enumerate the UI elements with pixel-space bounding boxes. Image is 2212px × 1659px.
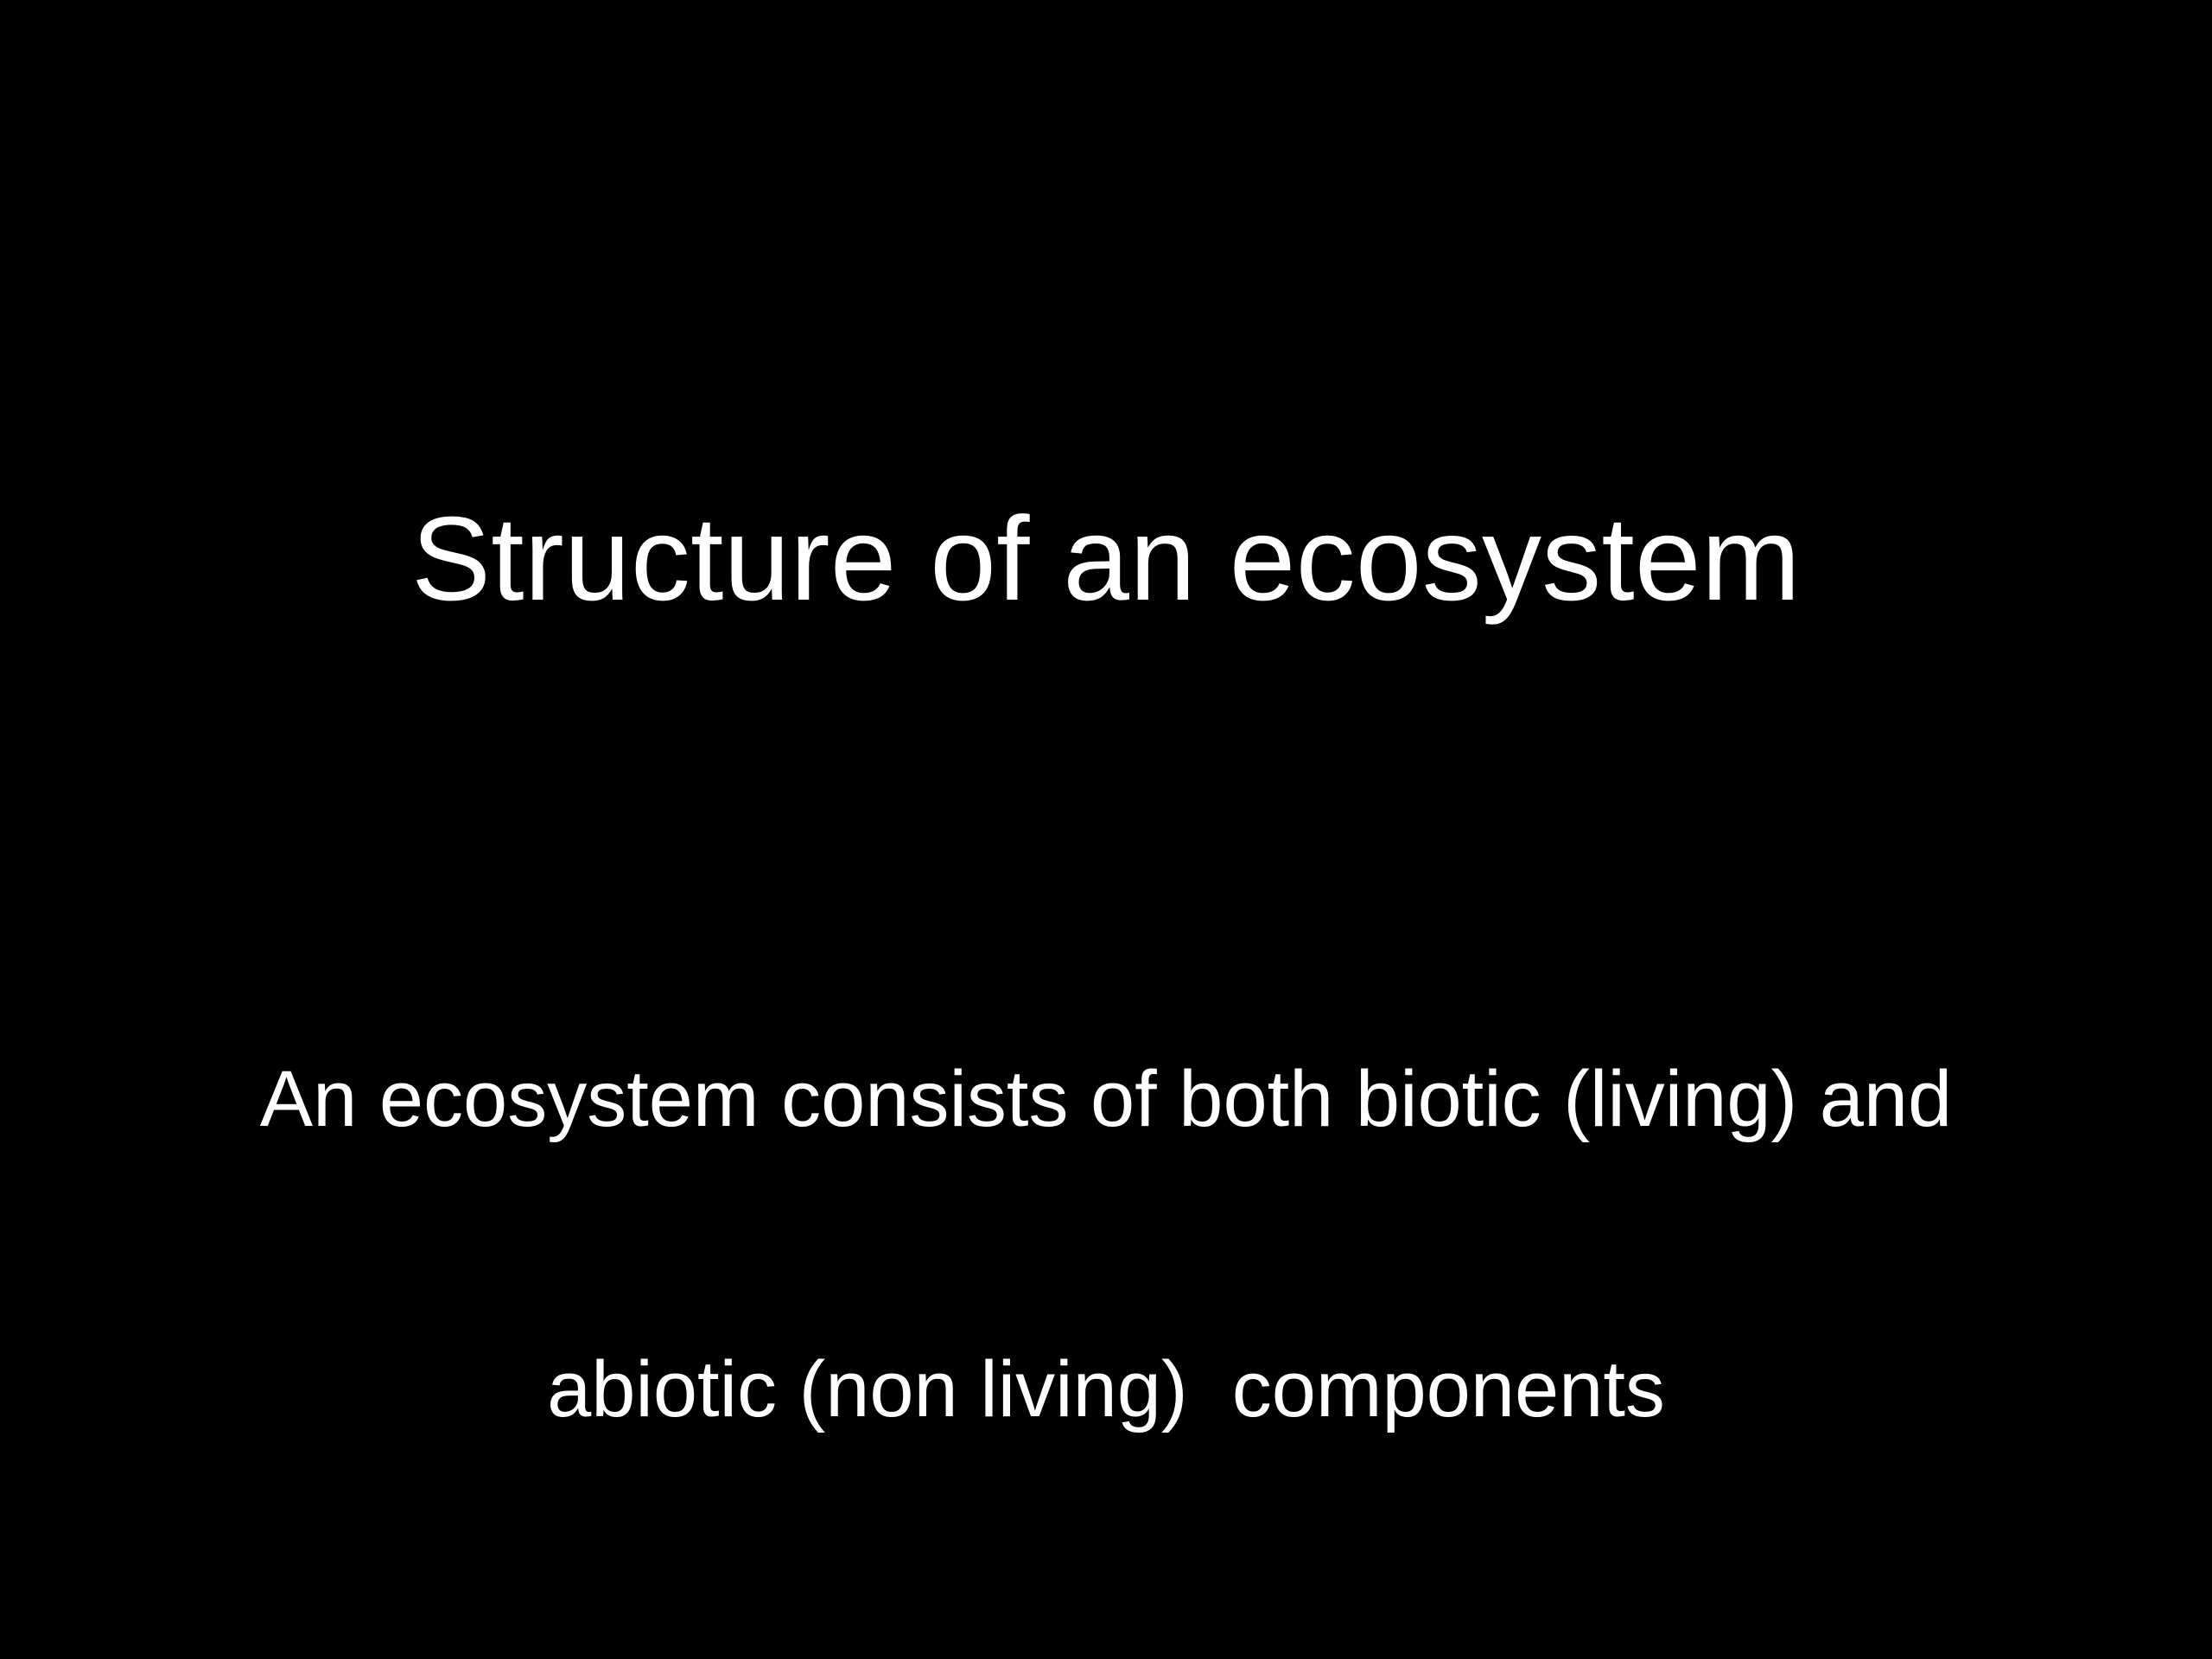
presentation-slide: Structure of an ecosystem An ecosystem c… — [0, 0, 2212, 1659]
body-line-2: abiotic (non living) components — [156, 1341, 2056, 1438]
slide-body-text: An ecosystem consists of both biotic (li… — [156, 857, 2056, 1631]
body-line-1: An ecosystem consists of both biotic (li… — [156, 1051, 2056, 1147]
slide-title: Structure of an ecosystem — [0, 499, 2212, 619]
